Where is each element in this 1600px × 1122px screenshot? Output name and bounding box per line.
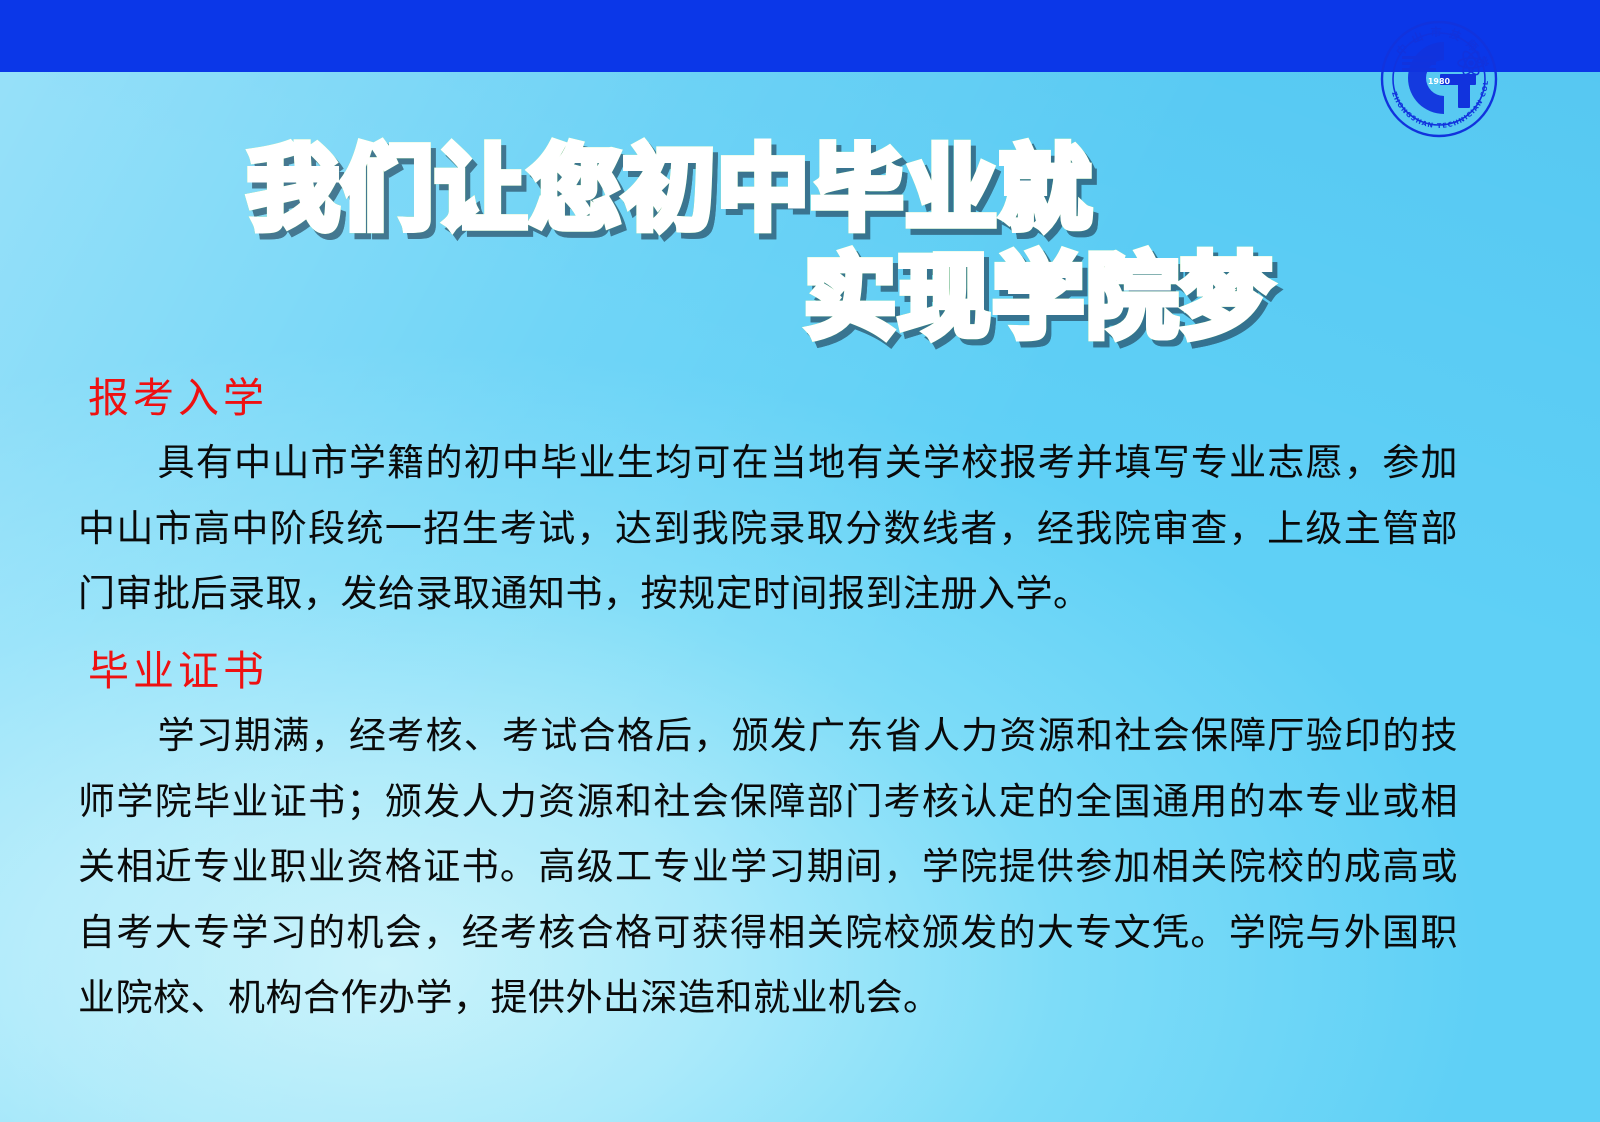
section-body-admission: 具有中山市学籍的初中毕业生均可在当地有关学校报考并填写专业志愿，参加中山市高中阶… [78,430,1458,626]
brochure-page: 1980 中山市技师学院 ZHONGSHAN TECHNICIAN COLLEG… [0,0,1600,1122]
section-body-diploma: 学习期满，经考核、考试合格后，颁发广东省人力资源和社会保障厅验印的技师学院毕业证… [78,703,1458,1030]
section-heading-admission: 报考入学 [88,372,1458,424]
section-diploma: 毕业证书 学习期满，经考核、考试合格后，颁发广东省人力资源和社会保障厅验印的技师… [78,645,1458,1031]
headline-line-1: 我们让您初中毕业就 [0,136,1320,244]
logo-year: 1980 [1428,77,1451,86]
headline: 我们让您初中毕业就 实现学院梦 [0,136,1320,351]
headline-line-2: 实现学院梦 [0,244,1320,352]
top-blue-banner [0,0,1600,72]
section-heading-diploma: 毕业证书 [88,645,1458,697]
section-admission: 报考入学 具有中山市学籍的初中毕业生均可在当地有关学校报考并填写专业志愿，参加中… [78,372,1458,627]
content-body: 报考入学 具有中山市学籍的初中毕业生均可在当地有关学校报考并填写专业志愿，参加中… [78,372,1458,1037]
college-seal-logo: 1980 中山市技师学院 ZHONGSHAN TECHNICIAN COLLEG… [1378,18,1500,140]
